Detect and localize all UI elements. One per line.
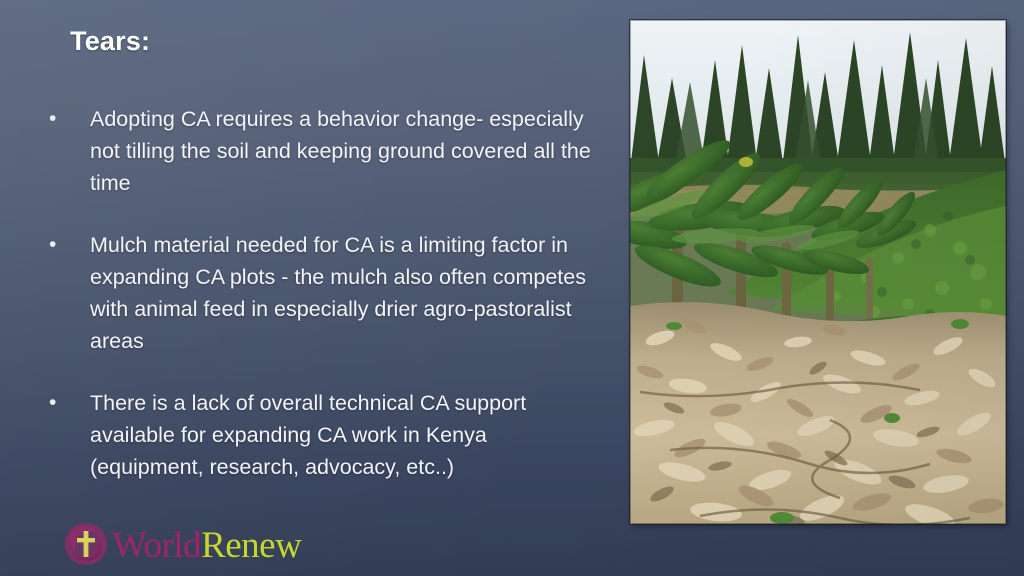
bullet-text: Adopting CA requires a behavior change- … [90, 103, 604, 199]
bullet-marker-icon: • [44, 387, 90, 419]
list-item: • Mulch material needed for CA is a limi… [44, 229, 604, 357]
bullet-list: • Adopting CA requires a behavior change… [44, 103, 604, 483]
logo-word-renew: Renew [201, 527, 301, 564]
world-renew-cross-circle-icon [62, 520, 110, 568]
slide-photo [630, 20, 1006, 524]
presentation-slide: Tears: • Adopting CA requires a behavior… [0, 0, 1024, 576]
bullet-text: Mulch material needed for CA is a limiti… [90, 229, 604, 357]
bullet-marker-icon: • [44, 229, 90, 261]
world-renew-logo: World Renew [62, 519, 301, 569]
bullet-marker-icon: • [44, 103, 90, 135]
page-title: Tears: [70, 26, 150, 57]
field-photo-illustration [630, 20, 1006, 524]
list-item: • There is a lack of overall technical C… [44, 387, 604, 483]
logo-word-world: World [112, 527, 201, 564]
list-item: • Adopting CA requires a behavior change… [44, 103, 604, 199]
bullet-text: There is a lack of overall technical CA … [90, 387, 604, 483]
